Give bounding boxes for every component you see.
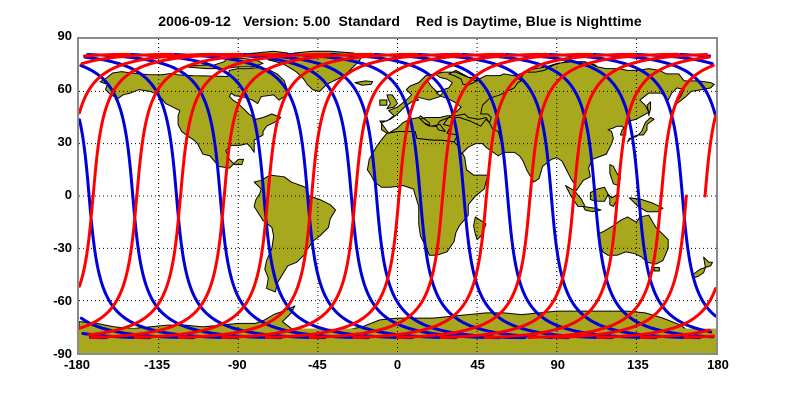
x-tick-label: -135 (127, 357, 187, 372)
x-tick-label: -90 (207, 357, 267, 372)
x-tick-label: 45 (448, 357, 508, 372)
x-tick-label: -180 (47, 357, 107, 372)
x-tick-label: 0 (368, 357, 428, 372)
x-tick-label: -45 (287, 357, 347, 372)
x-tick-label: 135 (608, 357, 668, 372)
x-tick-label: 90 (528, 357, 588, 372)
x-tick-label: 180 (688, 357, 748, 372)
x-axis-labels: -180-135-90-4504590135180 (0, 0, 800, 400)
satellite-ground-track-map: 2006-09-12 Version: 5.00 Standard Red is… (0, 0, 800, 400)
